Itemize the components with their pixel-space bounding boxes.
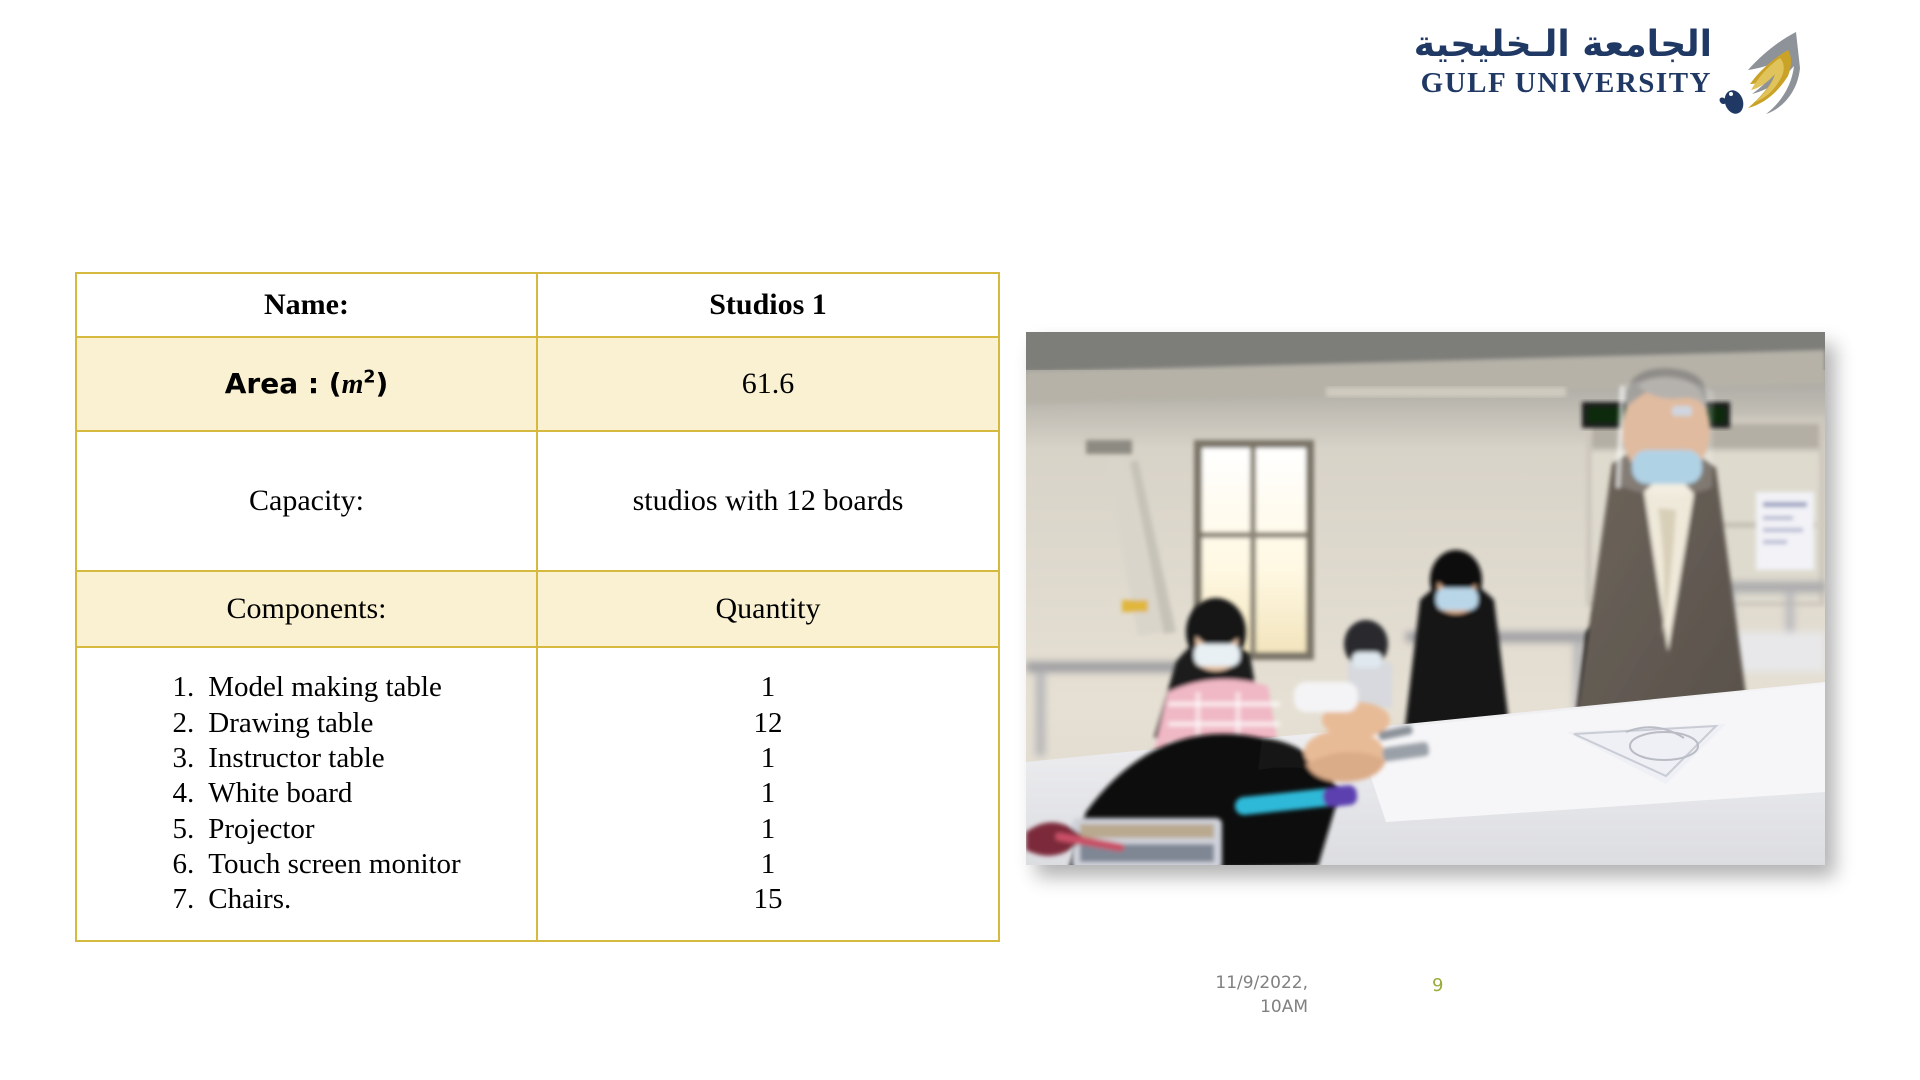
- component-quantity: 1: [546, 776, 990, 811]
- component-list-item: 1.Model making table: [152, 670, 460, 705]
- cell-area-value: 61.6: [537, 337, 999, 431]
- area-label-text: Area : (m2): [225, 367, 389, 400]
- component-number: 1.: [152, 670, 194, 705]
- cell-capacity-value: studios with 12 boards: [537, 431, 999, 571]
- component-quantity: 1: [546, 847, 990, 882]
- cell-components-label: Components:: [76, 571, 537, 647]
- cell-capacity-label: Capacity:: [76, 431, 537, 571]
- logo-latin-name: GULF UNIVERSITY: [1414, 67, 1712, 100]
- room-spec-table: Name: Studios 1 Area : (m2) 61.6 Capacit…: [75, 272, 1000, 942]
- component-number: 7.: [152, 882, 194, 917]
- component-number: 3.: [152, 741, 194, 776]
- component-name: Touch screen monitor: [208, 848, 460, 880]
- quantity-value-list: 112111115: [546, 670, 990, 918]
- components-ordered-list: 1.Model making table2.Drawing table3.Ins…: [152, 670, 460, 918]
- table-row-area: Area : (m2) 61.6: [76, 337, 999, 431]
- component-list-item: 5.Projector: [152, 812, 460, 847]
- component-list-item: 2.Drawing table: [152, 706, 460, 741]
- component-name: Model making table: [208, 671, 442, 703]
- gulf-university-logo: الجامعة الـخليجية GULF UNIVERSITY: [1414, 24, 1800, 120]
- studio-classroom-photo: EXIT: [1026, 332, 1825, 865]
- logo-text-block: الجامعة الـخليجية GULF UNIVERSITY: [1414, 24, 1712, 101]
- component-number: 6.: [152, 847, 194, 882]
- falcon-icon: [1718, 28, 1800, 120]
- cell-quantity-list: 112111115: [537, 647, 999, 941]
- table-row-components-header: Components: Quantity: [76, 571, 999, 647]
- component-quantity: 12: [546, 706, 990, 741]
- table-row-name: Name: Studios 1: [76, 273, 999, 337]
- component-name: Drawing table: [208, 707, 373, 739]
- component-quantity: 1: [546, 741, 990, 776]
- cell-area-label: Area : (m2): [76, 337, 537, 431]
- component-quantity: 15: [546, 882, 990, 917]
- component-quantity: 1: [546, 670, 990, 705]
- logo-arabic-name: الجامعة الـخليجية: [1414, 24, 1712, 65]
- component-name: Chairs.: [208, 883, 291, 915]
- timestamp-date: 11/9/2022,: [1178, 972, 1308, 996]
- component-number: 2.: [152, 706, 194, 741]
- component-name: White board: [208, 777, 352, 809]
- component-quantity: 1: [546, 812, 990, 847]
- component-list-item: 3.Instructor table: [152, 741, 460, 776]
- component-list-item: 6.Touch screen monitor: [152, 847, 460, 882]
- component-number: 5.: [152, 812, 194, 847]
- photo-illustration: EXIT: [1026, 332, 1825, 865]
- cell-quantity-label: Quantity: [537, 571, 999, 647]
- component-list-item: 7.Chairs.: [152, 882, 460, 917]
- cell-name-label: Name:: [76, 273, 537, 337]
- component-name: Instructor table: [208, 742, 384, 774]
- table-row-components-list: 1.Model making table2.Drawing table3.Ins…: [76, 647, 999, 941]
- slide-timestamp: 11/9/2022, 10AM: [1178, 972, 1308, 1020]
- cell-name-value: Studios 1: [537, 273, 999, 337]
- cell-components-list: 1.Model making table2.Drawing table3.Ins…: [76, 647, 537, 941]
- table-row-capacity: Capacity: studios with 12 boards: [76, 431, 999, 571]
- slide-page-number: 9: [1432, 975, 1443, 996]
- timestamp-time: 10AM: [1178, 996, 1308, 1020]
- component-number: 4.: [152, 776, 194, 811]
- component-list-item: 4.White board: [152, 776, 460, 811]
- component-name: Projector: [208, 813, 314, 845]
